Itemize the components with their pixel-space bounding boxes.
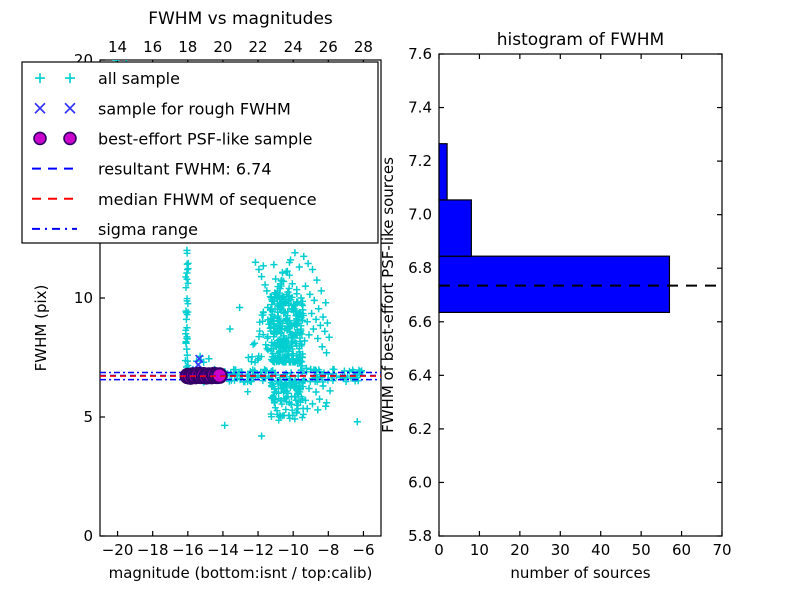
x-tick-label: 10 bbox=[470, 541, 489, 559]
marker-plus bbox=[282, 406, 289, 413]
y-tick-label: 6.0 bbox=[408, 473, 432, 491]
marker-plus bbox=[205, 355, 212, 362]
y-tick-label: 5 bbox=[83, 408, 93, 426]
bottom-tick-label: −16 bbox=[172, 541, 204, 559]
marker-plus bbox=[318, 287, 325, 294]
marker-plus bbox=[305, 331, 312, 338]
marker-plus bbox=[296, 263, 303, 270]
bottom-tick-label: −14 bbox=[207, 541, 239, 559]
legend-item-label: all sample bbox=[98, 69, 180, 88]
marker-plus bbox=[354, 418, 361, 425]
marker-plus bbox=[317, 322, 324, 329]
marker-plus bbox=[300, 411, 307, 418]
top-tick-label: 28 bbox=[354, 38, 373, 56]
marker-plus bbox=[289, 280, 296, 287]
left-xlabel: magnitude (bottom:isnt / top:calib) bbox=[109, 564, 373, 582]
marker-plus bbox=[250, 341, 257, 348]
marker-plus bbox=[185, 265, 192, 272]
marker-plus bbox=[312, 316, 319, 323]
y-tick-label: 6.6 bbox=[408, 313, 432, 331]
marker-plus bbox=[226, 325, 233, 332]
marker-plus bbox=[315, 305, 322, 312]
marker-plus bbox=[252, 259, 259, 266]
histogram-bar bbox=[439, 256, 669, 312]
marker-plus bbox=[304, 318, 311, 325]
left-bottom-axis: −20−18−16−14−12−10−8−6magnitude (bottom:… bbox=[102, 531, 375, 582]
left-panel-title: FWHM vs magnitudes bbox=[148, 9, 333, 29]
marker-plus bbox=[319, 343, 326, 350]
marker-plus bbox=[316, 396, 323, 403]
marker-plus bbox=[263, 287, 270, 294]
marker-plus bbox=[244, 388, 251, 395]
bottom-tick-label: −6 bbox=[352, 541, 374, 559]
marker-plus bbox=[299, 414, 306, 421]
marker-plus bbox=[293, 290, 300, 297]
marker-plus bbox=[313, 277, 320, 284]
legend-marker-circle-icon bbox=[34, 132, 46, 144]
marker-plus bbox=[270, 261, 277, 268]
y-tick-label: 7.6 bbox=[408, 45, 432, 63]
y-tick-label: 0 bbox=[83, 527, 93, 545]
marker-plus bbox=[319, 313, 326, 320]
marker-plus bbox=[184, 266, 191, 273]
marker-plus bbox=[264, 335, 271, 342]
marker-plus bbox=[300, 253, 307, 260]
marker-plus bbox=[310, 325, 317, 332]
marker-plus bbox=[251, 340, 258, 347]
legend-item-label: sigma range bbox=[98, 220, 198, 239]
marker-plus bbox=[236, 304, 243, 311]
histogram-bars bbox=[439, 144, 669, 313]
y-tick-label: 5.8 bbox=[408, 527, 432, 545]
marker-plus bbox=[323, 349, 330, 356]
bottom-tick-label: −10 bbox=[277, 541, 309, 559]
matplotlib-figure: FWHM vs magnitudes1416182022242628−20−18… bbox=[0, 0, 800, 600]
marker-plus bbox=[323, 399, 330, 406]
x-tick-label: 70 bbox=[712, 541, 731, 559]
marker-plus bbox=[286, 285, 293, 292]
top-tick-label: 14 bbox=[108, 38, 127, 56]
right-panel: histogram of FWHM010203040506070number o… bbox=[379, 30, 732, 582]
marker-plus bbox=[326, 334, 333, 341]
bottom-tick-label: −20 bbox=[102, 541, 134, 559]
legend-item-label: median FHWM of sequence bbox=[98, 190, 317, 209]
y-tick-label: 10 bbox=[74, 289, 93, 307]
x-tick-label: 40 bbox=[591, 541, 610, 559]
marker-plus bbox=[321, 328, 328, 335]
marker-plus bbox=[279, 269, 286, 276]
marker-plus bbox=[309, 266, 316, 273]
right-panel-title: histogram of FWHM bbox=[497, 30, 664, 50]
x-tick-label: 20 bbox=[510, 541, 529, 559]
y-tick-label: 6.4 bbox=[408, 366, 432, 384]
marker-plus bbox=[258, 273, 265, 280]
bottom-tick-label: −8 bbox=[317, 541, 339, 559]
legend-frame bbox=[22, 62, 378, 243]
top-tick-label: 26 bbox=[319, 38, 338, 56]
legend-marker-circle-icon bbox=[64, 132, 76, 144]
y-tick-label: 6.2 bbox=[408, 420, 432, 438]
right-ylabel: FWHM of best-effort PSF-like sources bbox=[379, 157, 397, 433]
marker-plus bbox=[314, 335, 321, 342]
marker-plus bbox=[183, 316, 190, 323]
marker-plus bbox=[260, 262, 267, 269]
marker-plus bbox=[322, 299, 329, 306]
x-tick-label: 60 bbox=[672, 541, 691, 559]
y-tick-label: 7.2 bbox=[408, 152, 432, 170]
bottom-tick-label: −12 bbox=[242, 541, 274, 559]
top-tick-label: 18 bbox=[178, 38, 197, 56]
y-tick-label: 7.0 bbox=[408, 206, 432, 224]
x-tick-label: 50 bbox=[632, 541, 651, 559]
marker-plus bbox=[221, 422, 228, 429]
marker-plus bbox=[260, 309, 267, 316]
marker-plus bbox=[314, 406, 321, 413]
top-tick-label: 22 bbox=[249, 38, 268, 56]
x-tick-label: 0 bbox=[434, 541, 444, 559]
top-tick-label: 16 bbox=[143, 38, 162, 56]
marker-plus bbox=[256, 328, 263, 335]
histogram-bar bbox=[439, 144, 447, 200]
marker-plus bbox=[302, 283, 309, 290]
marker-plus bbox=[311, 297, 318, 304]
x-tick-label: 30 bbox=[551, 541, 570, 559]
marker-plus bbox=[255, 266, 262, 273]
y-tick-label: 7.4 bbox=[408, 99, 432, 117]
right-x-axis: 010203040506070number of sources bbox=[434, 54, 731, 582]
marker-plus bbox=[306, 291, 313, 298]
y-tick-label: 6.8 bbox=[408, 259, 432, 277]
legend-item-label: sample for rough FWHM bbox=[98, 99, 291, 118]
top-tick-label: 20 bbox=[213, 38, 232, 56]
marker-plus bbox=[324, 319, 331, 326]
marker-plus bbox=[322, 403, 329, 410]
marker-plus bbox=[262, 367, 269, 374]
marker-plus bbox=[312, 388, 319, 395]
legend-item-label: resultant FWHM: 6.74 bbox=[98, 160, 272, 179]
marker-plus bbox=[326, 387, 333, 394]
left-top-axis: 1416182022242628 bbox=[108, 38, 373, 65]
marker-plus bbox=[308, 310, 315, 317]
marker-plus bbox=[258, 432, 265, 439]
figure-canvas: FWHM vs magnitudes1416182022242628−20−18… bbox=[0, 0, 800, 600]
left-ylabel: FWHM (pix) bbox=[32, 285, 50, 372]
marker-plus bbox=[291, 249, 298, 256]
right-xlabel: number of sources bbox=[510, 564, 650, 582]
marker-plus bbox=[261, 281, 268, 288]
marker-plus bbox=[305, 260, 312, 267]
legend-box: all samplesample for rough FWHMbest-effo… bbox=[22, 62, 378, 243]
marker-plus bbox=[309, 400, 316, 407]
histogram-bar bbox=[439, 200, 471, 256]
legend-item-label: best-effort PSF-like sample bbox=[98, 129, 312, 148]
bottom-tick-label: −18 bbox=[137, 541, 169, 559]
marker-plus bbox=[297, 294, 304, 301]
top-tick-label: 24 bbox=[284, 38, 303, 56]
